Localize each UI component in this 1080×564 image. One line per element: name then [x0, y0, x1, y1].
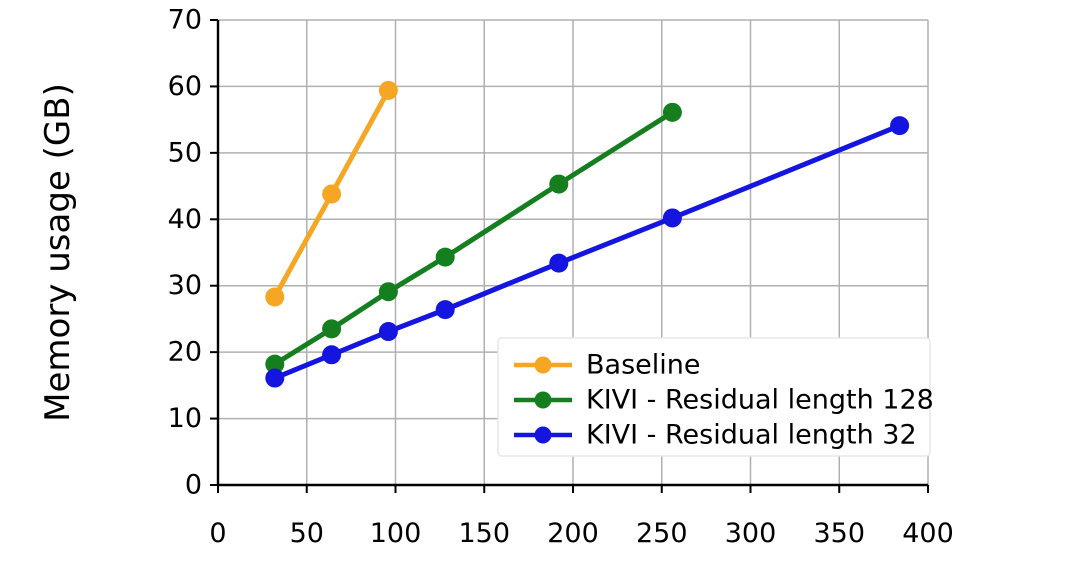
data-point: [549, 254, 568, 273]
data-point: [265, 288, 284, 307]
x-tick-label: 250: [636, 518, 688, 549]
data-point: [379, 81, 398, 100]
legend-swatch-marker: [535, 427, 552, 444]
line-chart: 050100150200250300350400010203040506070 …: [0, 0, 1080, 564]
legend-label: KIVI - Residual length 32: [586, 420, 917, 451]
legend[interactable]: BaselineKIVI - Residual length 128KIVI -…: [498, 338, 934, 456]
y-tick-label: 10: [168, 403, 202, 434]
data-point: [549, 175, 568, 194]
x-tick-label: 100: [370, 518, 422, 549]
data-point: [322, 345, 341, 364]
y-tick-label: 30: [168, 270, 202, 301]
y-tick-label: 60: [168, 71, 202, 102]
x-tick-label: 50: [290, 518, 324, 549]
x-tick-label: 150: [458, 518, 510, 549]
data-point: [436, 248, 455, 267]
data-point: [436, 300, 455, 319]
data-point: [322, 319, 341, 338]
y-tick-label: 50: [168, 137, 202, 168]
series-0: [265, 81, 398, 307]
legend-swatch-marker: [535, 357, 552, 374]
data-point: [379, 282, 398, 301]
y-tick-label: 20: [168, 337, 202, 368]
legend-swatch-marker: [535, 392, 552, 409]
data-point: [322, 185, 341, 204]
x-tick-label: 400: [902, 518, 954, 549]
legend-label: Baseline: [586, 350, 700, 381]
data-point: [379, 322, 398, 341]
data-point: [663, 208, 682, 227]
y-tick-label: 40: [168, 204, 202, 235]
x-tick-label: 200: [547, 518, 599, 549]
chart-figure: 050100150200250300350400010203040506070 …: [0, 0, 1080, 564]
data-point: [265, 369, 284, 388]
y-tick-label: 0: [185, 470, 202, 501]
legend-label: KIVI - Residual length 128: [586, 385, 934, 416]
data-point: [663, 103, 682, 122]
data-point: [890, 116, 909, 135]
x-tick-label: 0: [209, 518, 226, 549]
y-tick-label: 70: [168, 5, 202, 36]
x-tick-label: 350: [813, 518, 865, 549]
x-tick-label: 300: [725, 518, 777, 549]
y-axis-title: Memory usage (GB): [38, 83, 78, 422]
